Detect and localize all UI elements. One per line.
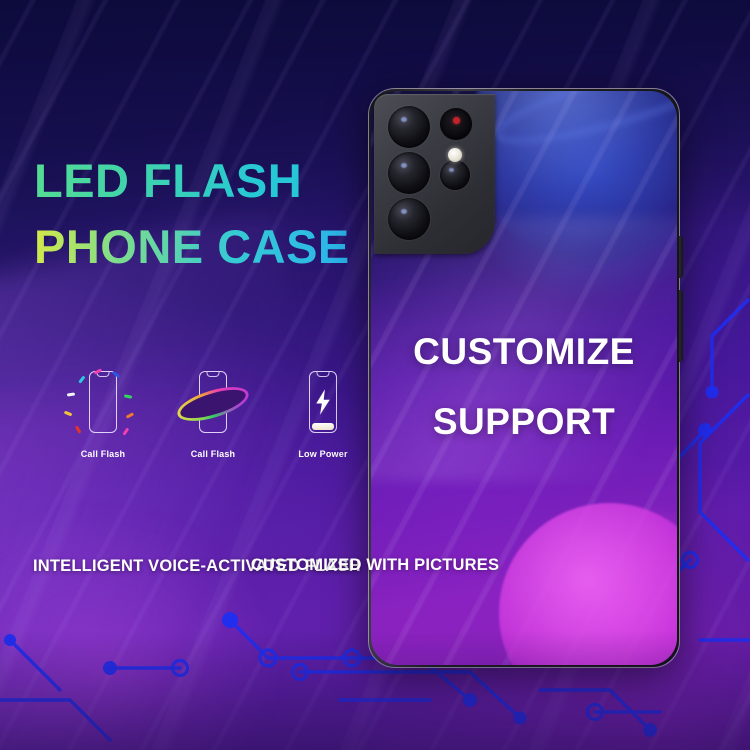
- caption-customized-pictures: CUSTOMIZED WITH PICTURES: [0, 556, 750, 575]
- camera-lens-icon: [388, 106, 430, 148]
- product-poster: LED FLASH PHONE CASE Call Flash: [0, 0, 750, 750]
- phone-outline-shape: [89, 371, 117, 433]
- camera-lens-icon: [440, 160, 470, 190]
- feature-label: Call Flash: [81, 449, 126, 459]
- phone-rainbow-ring-icon: [172, 368, 254, 440]
- phone-confetti-icon: [62, 368, 144, 440]
- feature-item-call-flash-ring: Call Flash: [172, 368, 254, 459]
- phone-mockup: CUSTOMIZE SUPPORT: [368, 88, 680, 668]
- headline-line-1: LED FLASH: [34, 148, 414, 214]
- headline-line-2: PHONE CASE: [34, 214, 414, 280]
- camera-lens-icon: [388, 152, 430, 194]
- background-wedge-left: [0, 205, 391, 750]
- lightning-bolt-icon: [314, 389, 332, 415]
- led-flash-icon: [448, 148, 462, 162]
- feature-label: Call Flash: [191, 449, 236, 459]
- camera-lens-icon: [388, 198, 430, 240]
- screen-title-line-1: CUSTOMIZE: [371, 331, 677, 373]
- screen-title-line-2: SUPPORT: [371, 401, 677, 443]
- feature-item-call-flash-confetti: Call Flash: [62, 368, 144, 459]
- phone-power-button[interactable]: [679, 290, 683, 362]
- red-sensor-icon: [440, 108, 472, 140]
- background-glow-bottom-left: [0, 500, 290, 750]
- camera-module: [374, 94, 495, 254]
- feature-list: Call Flash Call Flash Low Power: [62, 368, 364, 459]
- phone-battery-bolt-icon: [282, 368, 364, 440]
- phone-volume-button[interactable]: [679, 236, 683, 278]
- headline: LED FLASH PHONE CASE: [34, 148, 414, 280]
- feature-label: Low Power: [298, 449, 347, 459]
- feature-item-low-power: Low Power: [282, 368, 364, 459]
- battery-fill-bar: [312, 423, 334, 430]
